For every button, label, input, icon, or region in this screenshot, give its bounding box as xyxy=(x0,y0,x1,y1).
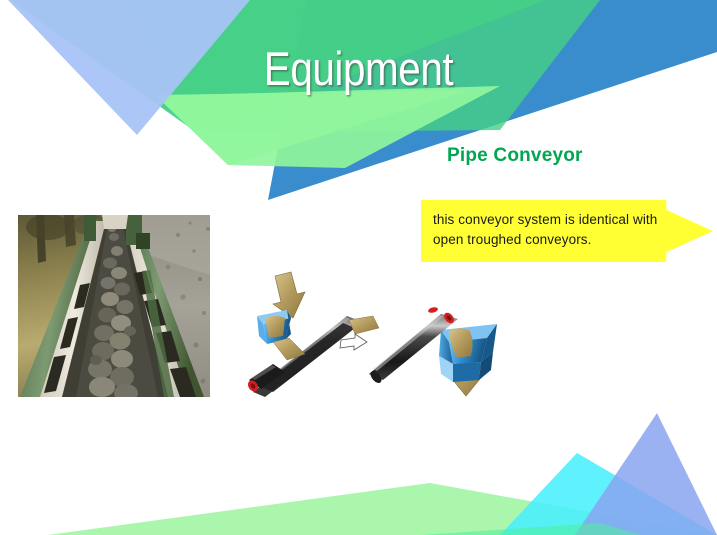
mid-roller xyxy=(428,306,439,313)
top-decoration-group xyxy=(0,0,717,200)
callout-arrow-box: this conveyor system is identical with o… xyxy=(421,200,713,262)
pipe-conveyor-diagram xyxy=(243,268,505,400)
conveyor-photo xyxy=(18,215,210,397)
slide-canvas: Equipment Pipe Conveyor this conveyor sy… xyxy=(0,0,717,535)
callout-text: this conveyor system is identical with o… xyxy=(433,210,673,249)
bottom-light-green-triangle xyxy=(48,483,717,535)
feed-material-arrow xyxy=(273,272,305,318)
bottom-periwinkle-triangle xyxy=(575,413,717,535)
bottom-green-overlap xyxy=(420,523,640,535)
bottom-decoration-group xyxy=(0,395,717,535)
top-light-green-triangle xyxy=(155,90,470,165)
bottom-cyan-triangle xyxy=(500,453,717,535)
right-hopper-collar-front xyxy=(453,362,481,382)
page-title: Equipment xyxy=(50,44,667,93)
section-heading: Pipe Conveyor xyxy=(447,145,583,167)
top-right-blue-triangle xyxy=(268,0,717,200)
